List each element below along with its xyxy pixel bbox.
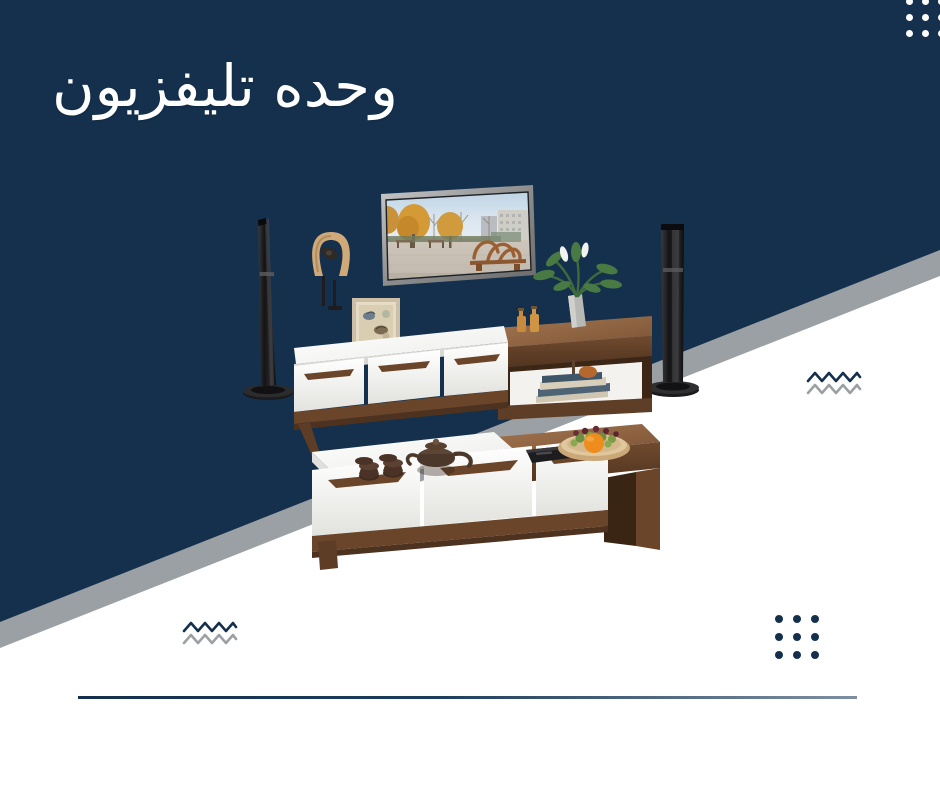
bottom-divider-rule <box>78 696 857 699</box>
dot <box>922 0 929 5</box>
dot <box>775 633 783 641</box>
dot <box>811 633 819 641</box>
zigzag-wave-icon-right <box>806 370 862 396</box>
dot <box>906 14 913 21</box>
horseshoe-sculpture <box>312 232 350 310</box>
product-image <box>236 180 706 580</box>
dot <box>906 0 913 5</box>
left-tower-speaker <box>243 218 293 400</box>
dot <box>793 615 801 623</box>
page-title: وحده تليفزيون <box>0 52 450 120</box>
drawer-3 <box>444 343 508 396</box>
dot <box>811 615 819 623</box>
dot <box>775 615 783 623</box>
dot <box>793 633 801 641</box>
zigzag-wave-icon-left <box>182 620 238 646</box>
dot <box>811 651 819 659</box>
dot <box>775 651 783 659</box>
potted-plant <box>532 242 622 328</box>
drawer-2 <box>368 350 440 404</box>
dot <box>906 30 913 37</box>
flat-screen-tv <box>375 185 542 288</box>
coffee-table <box>312 424 660 570</box>
dot <box>922 30 929 37</box>
right-tower-speaker <box>647 224 699 397</box>
dot-grid-icon-top-right <box>897 0 940 46</box>
dot <box>922 14 929 21</box>
dot-grid-icon-bottom-right <box>765 615 819 669</box>
drawer-1 <box>294 358 364 412</box>
dot <box>793 651 801 659</box>
promo-banner: وحده تليفزيون <box>0 0 940 788</box>
